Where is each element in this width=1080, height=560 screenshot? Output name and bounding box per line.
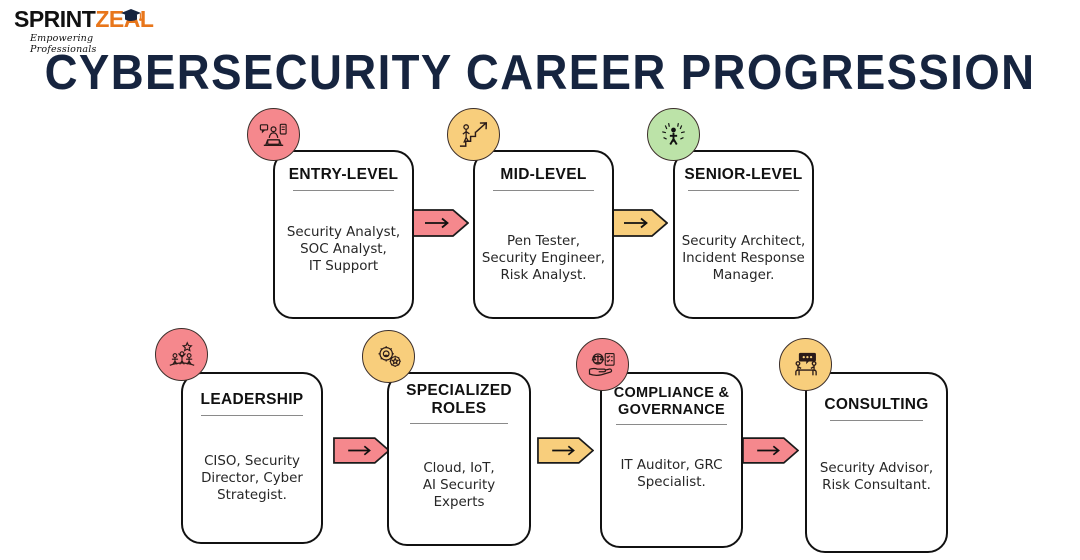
stage-roles-specialized-roles: Cloud, IoT, AI Security Experts xyxy=(393,460,525,511)
stage-divider-compliance-governance xyxy=(616,424,727,425)
stage-divider-leadership xyxy=(201,415,303,416)
graduation-cap-icon xyxy=(120,8,142,24)
leader-spotlight-icon xyxy=(647,108,700,161)
arrow-entry-to-mid xyxy=(409,206,469,240)
gear-badge-icon xyxy=(362,330,415,383)
stage-roles-leadership: CISO, Security Director, Cyber Strategis… xyxy=(187,453,317,504)
stage-title-consulting: CONSULTING xyxy=(807,396,946,414)
meeting-discussion-icon xyxy=(779,338,832,391)
stage-title-senior-level: SENIOR-LEVEL xyxy=(675,166,812,184)
career-stairs-icon xyxy=(447,108,500,161)
stage-title-mid-level: MID-LEVEL xyxy=(475,166,612,184)
team-star-celebration-icon xyxy=(155,328,208,381)
person-at-desk-icon xyxy=(247,108,300,161)
scales-hand-checklist-icon xyxy=(576,338,629,391)
stage-divider-specialized-roles xyxy=(410,423,508,424)
stage-roles-compliance-governance: IT Auditor, GRC Specialist. xyxy=(606,457,737,491)
brand-logo: SPRINTZEAL Empowering Professionals xyxy=(14,6,144,46)
stage-divider-consulting xyxy=(830,420,923,421)
stage-roles-consulting: Security Advisor, Risk Consultant. xyxy=(811,460,942,494)
arrow-compliance-to-consulting xyxy=(742,434,802,468)
stage-title-entry-level: ENTRY-LEVEL xyxy=(275,166,412,184)
stage-card-mid-level[interactable]: MID-LEVEL Pen Tester, Security Engineer,… xyxy=(473,150,614,319)
stage-roles-entry-level: Security Analyst, SOC Analyst, IT Suppor… xyxy=(279,224,408,275)
stage-roles-senior-level: Security Architect, Incident Response Ma… xyxy=(679,233,808,284)
brand-name-part1: SPRINT xyxy=(14,6,95,32)
stage-card-leadership[interactable]: LEADERSHIP CISO, Security Director, Cybe… xyxy=(181,372,323,544)
stage-title-compliance-governance: COMPLIANCE & GOVERNANCE xyxy=(602,385,741,419)
stage-roles-mid-level: Pen Tester, Security Engineer, Risk Anal… xyxy=(479,233,608,284)
stage-card-compliance-governance[interactable]: COMPLIANCE & GOVERNANCE IT Auditor, GRC … xyxy=(600,372,743,548)
stage-title-leadership: LEADERSHIP xyxy=(183,391,321,409)
page-title: CYBERSECURITY CAREER PROGRESSION xyxy=(38,44,1042,102)
arrow-mid-to-senior xyxy=(608,206,668,240)
stage-card-entry-level[interactable]: ENTRY-LEVEL Security Analyst, SOC Analys… xyxy=(273,150,414,319)
stage-title-specialized-roles: SPECIALIZED ROLES xyxy=(389,382,529,418)
stage-card-specialized-roles[interactable]: SPECIALIZED ROLES Cloud, IoT, AI Securit… xyxy=(387,372,531,546)
stage-card-senior-level[interactable]: SENIOR-LEVEL Security Architect, Inciden… xyxy=(673,150,814,319)
stage-divider-mid-level xyxy=(493,190,594,191)
stage-divider-senior-level xyxy=(688,190,799,191)
arrow-specialized-to-compliance xyxy=(537,434,597,468)
stage-card-consulting[interactable]: CONSULTING Security Advisor, Risk Consul… xyxy=(805,372,948,553)
arrow-leadership-to-specialized xyxy=(333,434,393,468)
stage-divider-entry-level xyxy=(293,190,394,191)
